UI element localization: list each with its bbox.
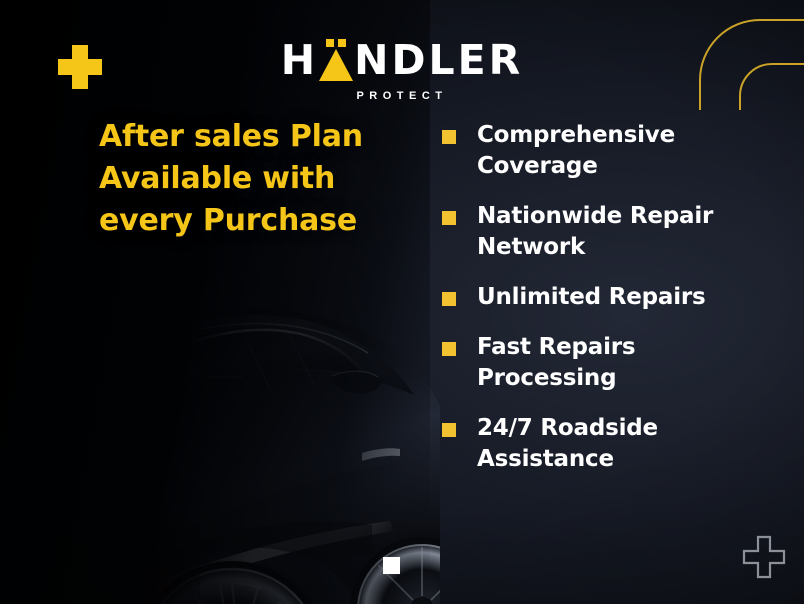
headline-line-3: every Purchase — [99, 200, 419, 242]
bullet-square-icon — [442, 292, 456, 306]
list-item: Comprehensive Coverage — [442, 120, 772, 182]
list-item: 24/7 Roadside Assistance — [442, 413, 772, 475]
feature-list: Comprehensive Coverage Nationwide Repair… — [442, 120, 772, 475]
plus-icon-bar-vertical — [72, 45, 88, 89]
bullet-square-icon — [442, 423, 456, 437]
list-item: Nationwide Repair Network — [442, 201, 772, 263]
headline-line-2: Available with — [99, 158, 419, 200]
slide-indicator[interactable] — [383, 557, 400, 574]
bullet-square-icon — [442, 130, 456, 144]
list-item: Fast Repairs Processing — [442, 332, 772, 394]
plus-icon — [58, 45, 102, 89]
promo-slide: H NDLER PROTECT After sales Plan Availab… — [0, 0, 804, 604]
feature-label: Nationwide Repair Network — [477, 201, 772, 263]
quarter-arc-icon — [694, 18, 804, 114]
list-item: Unlimited Repairs — [442, 282, 772, 313]
headline: After sales Plan Available with every Pu… — [99, 116, 419, 242]
feature-label: Fast Repairs Processing — [477, 332, 772, 394]
feature-label: Unlimited Repairs — [477, 282, 706, 313]
feature-label: Comprehensive Coverage — [477, 120, 772, 182]
feature-label: 24/7 Roadside Assistance — [477, 413, 772, 475]
bullet-square-icon — [442, 211, 456, 225]
headline-line-1: After sales Plan — [99, 116, 419, 158]
bullet-square-icon — [442, 342, 456, 356]
plus-outline-icon — [742, 535, 786, 579]
